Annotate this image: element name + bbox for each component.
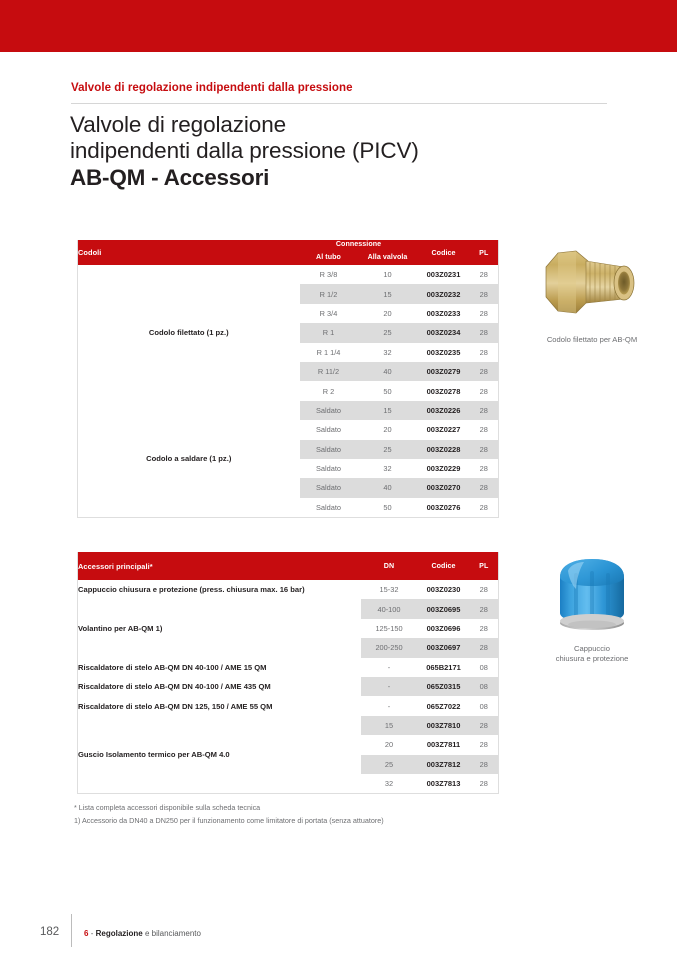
cell-pl: 28 [470, 638, 499, 657]
cell-valvola: 20 [358, 420, 418, 439]
cell-tubo: R 3/8 [300, 265, 358, 284]
cell-tubo: R 2 [300, 381, 358, 400]
cell-codice: 003Z7813 [418, 774, 470, 794]
cell-valvola: 50 [358, 381, 418, 400]
cell-valvola: 50 [358, 498, 418, 518]
cell-pl: 28 [470, 459, 499, 478]
table-row: Riscaldatore di stelo AB-QM DN 125, 150 … [78, 696, 499, 715]
footnotes: * Lista completa accessori disponibile s… [74, 802, 384, 827]
table-accessori-header: Accessori principali* DN Codice PL [78, 552, 499, 580]
figure-codolo-caption: Codolo filettato per AB-QM [512, 335, 672, 346]
cell-codice: 003Z0234 [418, 323, 470, 342]
cell-tubo: R 3/4 [300, 304, 358, 323]
cell-valvola: 32 [358, 343, 418, 362]
cell-codice: 065Z7022 [418, 696, 470, 715]
cell-codice: 003Z0230 [418, 580, 470, 599]
th-alla-valvola: Alla valvola [358, 248, 418, 265]
rowgroup-label-riscaldatore-ame55: Riscaldatore di stelo AB-QM DN 125, 150 … [78, 696, 361, 715]
th-codice: Codice [418, 552, 470, 580]
cell-pl: 28 [470, 381, 499, 400]
table-codoli-header: Codoli Connessione Codice PL Al tubo All… [78, 240, 499, 265]
footer-chapter-bold: Regolazione [96, 929, 143, 938]
th-pl: PL [470, 552, 499, 580]
cell-dn: - [361, 677, 418, 696]
footer-chapter-rest: e bilanciamento [143, 929, 201, 938]
page-title: Valvole di regolazione indipendenti dall… [70, 112, 590, 192]
th-accessori-principali: Accessori principali* [78, 552, 361, 580]
cell-valvola: 15 [358, 401, 418, 420]
cell-dn: 15-32 [361, 580, 418, 599]
cell-codice: 003Z7811 [418, 735, 470, 754]
table-codoli: Codoli Connessione Codice PL Al tubo All… [77, 240, 499, 518]
top-red-band [0, 0, 677, 52]
cell-codice: 003Z0228 [418, 440, 470, 459]
footer-chapter-number: 6 [84, 929, 88, 938]
section-eyebrow: Valvole di regolazione indipendenti dall… [71, 82, 353, 94]
th-al-tubo: Al tubo [300, 248, 358, 265]
th-codice: Codice [418, 240, 470, 265]
footnote-one: 1) Accessorio da DN40 a DN250 per il fun… [74, 815, 384, 828]
cell-dn: - [361, 696, 418, 715]
table-row: Cappuccio chiusura e protezione (press. … [78, 580, 499, 599]
cell-codice: 003Z0696 [418, 619, 470, 638]
rowgroup-label-riscaldatore-ame435: Riscaldatore di stelo AB-QM DN 40-100 / … [78, 677, 361, 696]
cell-codice: 003Z0226 [418, 401, 470, 420]
cell-dn: 40-100 [361, 599, 418, 618]
cell-pl: 08 [470, 677, 499, 696]
cell-valvola: 40 [358, 362, 418, 381]
table-row: Volantino per AB-QM 1) 40-100 003Z0695 2… [78, 599, 499, 618]
footnote-asterisk: * Lista completa accessori disponibile s… [74, 802, 384, 815]
footer-divider [71, 914, 72, 947]
cell-valvola: 20 [358, 304, 418, 323]
cell-pl: 28 [470, 735, 499, 754]
blue-protective-cap-photo [512, 555, 672, 639]
table-row: Codolo filettato (1 pz.) R 3/8 10 003Z02… [78, 265, 499, 284]
cell-codice: 003Z0227 [418, 420, 470, 439]
cell-tubo: R 1/2 [300, 284, 358, 303]
footer-dash: - [91, 929, 94, 938]
cell-valvola: 15 [358, 284, 418, 303]
brass-threaded-tailpiece-photo [512, 237, 672, 329]
page-title-line-1: Valvole di regolazione [70, 112, 590, 138]
rowgroup-label-cappuccio: Cappuccio chiusura e protezione (press. … [78, 580, 361, 599]
cell-pl: 28 [470, 498, 499, 518]
cell-pl: 08 [470, 696, 499, 715]
cell-codice: 003Z0270 [418, 478, 470, 497]
cell-pl: 28 [470, 323, 499, 342]
cell-pl: 28 [470, 599, 499, 618]
cell-pl: 28 [470, 478, 499, 497]
cell-pl: 28 [470, 580, 499, 599]
cell-codice: 003Z0235 [418, 343, 470, 362]
cell-pl: 28 [470, 401, 499, 420]
cell-pl: 28 [470, 265, 499, 284]
page-content: Valvole di regolazione indipendenti dall… [0, 52, 677, 958]
cell-codice: 003Z0276 [418, 498, 470, 518]
table-accessori-body: Cappuccio chiusura e protezione (press. … [78, 580, 499, 794]
cell-valvola: 25 [358, 440, 418, 459]
cell-codice: 003Z7810 [418, 716, 470, 735]
table-codoli-body: Codolo filettato (1 pz.) R 3/8 10 003Z02… [78, 265, 499, 518]
cell-codice: 003Z0279 [418, 362, 470, 381]
cell-pl: 28 [470, 343, 499, 362]
cell-tubo: Saldato [300, 459, 358, 478]
cell-pl: 28 [470, 362, 499, 381]
cell-dn: 25 [361, 755, 418, 774]
cell-tubo: R 1 1/4 [300, 343, 358, 362]
th-codoli: Codoli [78, 240, 300, 265]
cell-pl: 28 [470, 755, 499, 774]
page-title-line-2: indipendenti dalla pressione (PICV) [70, 138, 590, 164]
table-accessori: Accessori principali* DN Codice PL Cappu… [77, 552, 499, 794]
th-connessione: Connessione [300, 240, 418, 248]
cell-codice: 003Z0229 [418, 459, 470, 478]
cell-valvola: 32 [358, 459, 418, 478]
rowgroup-label-guscio: Guscio Isolamento termico per AB-QM 4.0 [78, 716, 361, 794]
cell-codice: 003Z0233 [418, 304, 470, 323]
th-dn: DN [361, 552, 418, 580]
cell-pl: 28 [470, 619, 499, 638]
page-number: 182 [40, 926, 59, 938]
rowgroup-label-volantino: Volantino per AB-QM 1) [78, 599, 361, 657]
cell-tubo: Saldato [300, 478, 358, 497]
figure-cappuccio: Cappuccio chiusura e protezione [512, 555, 672, 665]
cell-pl: 28 [470, 284, 499, 303]
figure-cappuccio-caption-line-2: chiusura e protezione [512, 654, 672, 665]
cell-pl: 08 [470, 658, 499, 677]
footer-chapter: 6 - Regolazione e bilanciamento [84, 929, 201, 938]
cell-codice: 003Z0231 [418, 265, 470, 284]
cell-pl: 28 [470, 420, 499, 439]
rowgroup-label-riscaldatore-ame15: Riscaldatore di stelo AB-QM DN 40-100 / … [78, 658, 361, 677]
cell-tubo: Saldato [300, 420, 358, 439]
page-title-line-3: AB-QM - Accessori [70, 164, 590, 192]
cell-tubo: Saldato [300, 498, 358, 518]
figure-cappuccio-caption-line-1: Cappuccio [512, 644, 672, 655]
rowgroup-label-codolo-filettato: Codolo filettato (1 pz.) [78, 265, 300, 401]
cell-dn: - [361, 658, 418, 677]
cell-dn: 20 [361, 735, 418, 754]
cell-dn: 15 [361, 716, 418, 735]
cell-pl: 28 [470, 440, 499, 459]
cell-dn: 125-150 [361, 619, 418, 638]
cell-valvola: 40 [358, 478, 418, 497]
table-row: Guscio Isolamento termico per AB-QM 4.0 … [78, 716, 499, 735]
cell-tubo: R 11/2 [300, 362, 358, 381]
cell-codice: 065Z0315 [418, 677, 470, 696]
th-pl: PL [470, 240, 499, 265]
cell-codice: 003Z0695 [418, 599, 470, 618]
cell-dn: 200-250 [361, 638, 418, 657]
cell-tubo: R 1 [300, 323, 358, 342]
cell-codice: 003Z7812 [418, 755, 470, 774]
cell-valvola: 25 [358, 323, 418, 342]
cell-tubo: Saldato [300, 401, 358, 420]
rowgroup-label-codolo-saldare: Codolo a saldare (1 pz.) [78, 401, 300, 518]
eyebrow-divider [71, 103, 607, 104]
cell-codice: 065B2171 [418, 658, 470, 677]
cell-codice: 003Z0278 [418, 381, 470, 400]
cell-tubo: Saldato [300, 440, 358, 459]
table-row: Riscaldatore di stelo AB-QM DN 40-100 / … [78, 677, 499, 696]
cell-codice: 003Z0697 [418, 638, 470, 657]
table-row: Riscaldatore di stelo AB-QM DN 40-100 / … [78, 658, 499, 677]
cell-codice: 003Z0232 [418, 284, 470, 303]
cell-pl: 28 [470, 716, 499, 735]
cell-pl: 28 [470, 774, 499, 794]
cell-pl: 28 [470, 304, 499, 323]
table-row: Codolo a saldare (1 pz.) Saldato 15 003Z… [78, 401, 499, 420]
cell-dn: 32 [361, 774, 418, 794]
cell-valvola: 10 [358, 265, 418, 284]
figure-codolo-filettato: Codolo filettato per AB-QM [512, 237, 672, 345]
